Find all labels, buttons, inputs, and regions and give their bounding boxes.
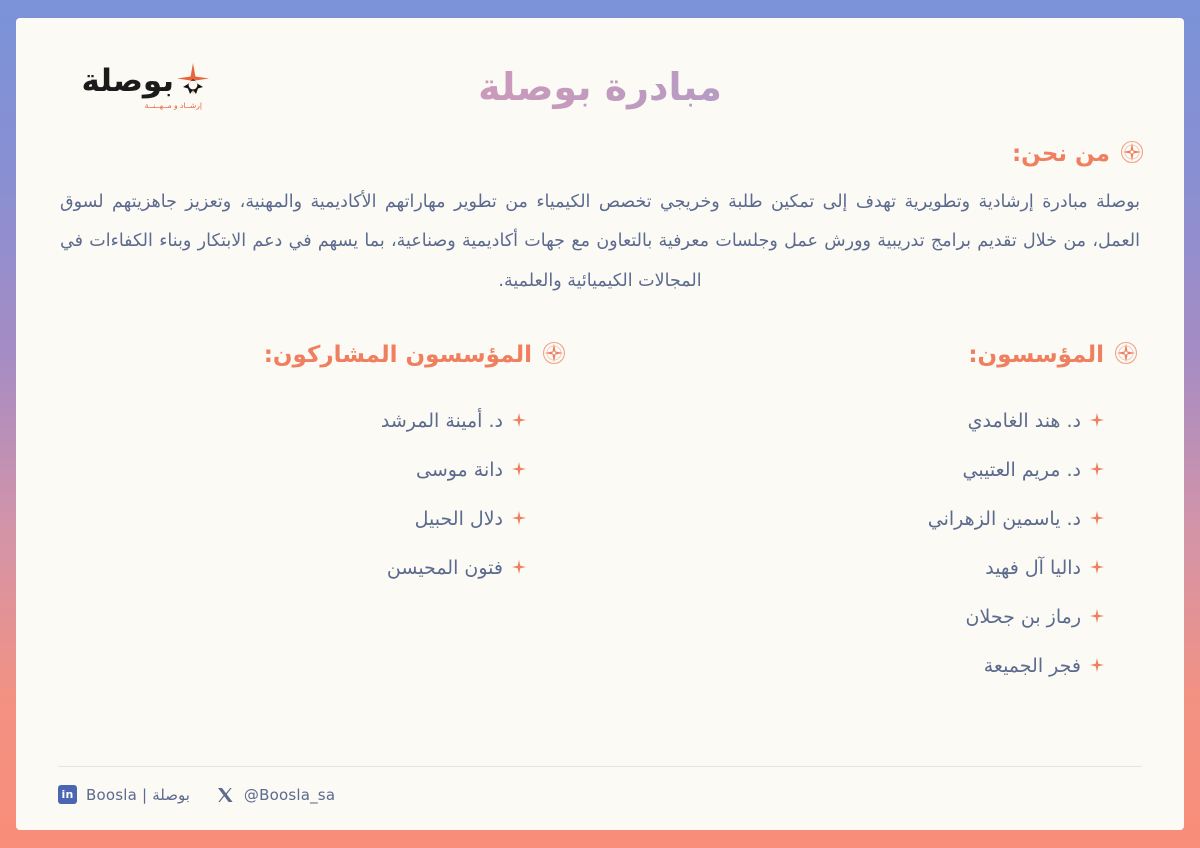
sparkle-icon (1090, 508, 1104, 530)
list-item: رماز بن جحلان (600, 592, 1138, 641)
person-name: داليا آل فهيد (985, 557, 1081, 579)
about-heading-row: من نحن: (56, 140, 1144, 169)
list-item: د. هند الغامدي (600, 396, 1138, 445)
list-item: داليا آل فهيد (600, 543, 1138, 592)
about-heading: من نحن: (1012, 143, 1110, 166)
sparkle-icon (1090, 459, 1104, 481)
person-name: رماز بن جحلان (966, 606, 1081, 628)
linkedin-link[interactable]: in Boosla | بوصلة (58, 785, 190, 804)
boosla-logo: بوصلة إرشــاد و مــهــنــة (56, 50, 206, 112)
sparkle-icon (512, 410, 526, 432)
people-columns: المؤسسون: د. هند الغامدي د. مريم العتيبي (56, 341, 1144, 690)
person-name: د. ياسمين الزهراني (928, 508, 1081, 530)
x-label: @Boosla_sa (244, 786, 335, 804)
person-name: دلال الحبيل (415, 508, 503, 530)
compass-star-icon (176, 61, 210, 101)
logo-wordmark: بوصلة (82, 66, 175, 97)
sparkle-icon (512, 557, 526, 579)
poster-footer: in Boosla | بوصلة @Boosla_sa (16, 766, 1184, 830)
list-item: د. ياسمين الزهراني (600, 494, 1138, 543)
about-section: من نحن: بوصلة مبادرة إرشادية وتطويرية ته… (56, 140, 1144, 301)
founders-heading: المؤسسون: (968, 344, 1104, 367)
founders-column: المؤسسون: د. هند الغامدي د. مريم العتيبي (600, 341, 1138, 690)
person-name: د. أمينة المرشد (381, 410, 503, 432)
founders-list: د. هند الغامدي د. مريم العتيبي د. ياسمين… (600, 396, 1138, 690)
sparkle-icon (1090, 606, 1104, 628)
list-item: د. مريم العتيبي (600, 445, 1138, 494)
sparkle-icon (512, 508, 526, 530)
person-name: د. مريم العتيبي (963, 459, 1081, 481)
footer-divider (58, 766, 1142, 767)
x-twitter-icon (216, 785, 235, 804)
compass-rose-icon (1120, 140, 1144, 169)
page-title: مبادرة بوصلة (56, 44, 1144, 112)
about-paragraph: بوصلة مبادرة إرشادية وتطويرية تهدف إلى ت… (56, 183, 1144, 301)
compass-rose-icon (1114, 341, 1138, 370)
cofounders-column: المؤسسون المشاركون: د. أمينة المرشد دانة… (62, 341, 600, 690)
sparkle-icon (512, 459, 526, 481)
list-item: فتون المحيسن (62, 543, 600, 592)
person-name: د. هند الغامدي (968, 410, 1081, 432)
compass-rose-icon (542, 341, 566, 370)
poster-card: بوصلة إرشــاد و مــهــنــة مبادرة بوصلة (16, 18, 1184, 830)
sparkle-icon (1090, 557, 1104, 579)
sparkle-icon (1090, 410, 1104, 432)
person-name: فجر الجميعة (984, 655, 1081, 677)
linkedin-label: Boosla | بوصلة (86, 786, 190, 804)
founders-heading-row: المؤسسون: (600, 341, 1138, 370)
person-name: فتون المحيسن (387, 557, 503, 579)
linkedin-icon: in (58, 785, 77, 804)
cofounders-heading-row: المؤسسون المشاركون: (62, 341, 600, 370)
list-item: دلال الحبيل (62, 494, 600, 543)
list-item: دانة موسى (62, 445, 600, 494)
person-name: دانة موسى (416, 459, 503, 481)
logo-tagline: إرشــاد و مــهــنــة (145, 101, 202, 110)
sparkle-icon (1090, 655, 1104, 677)
list-item: د. أمينة المرشد (62, 396, 600, 445)
x-link[interactable]: @Boosla_sa (216, 785, 335, 804)
cofounders-list: د. أمينة المرشد دانة موسى دلال الحبيل (62, 396, 600, 592)
cofounders-heading: المؤسسون المشاركون: (264, 344, 532, 367)
poster-header: بوصلة إرشــاد و مــهــنــة مبادرة بوصلة (56, 44, 1144, 122)
list-item: فجر الجميعة (600, 641, 1138, 690)
